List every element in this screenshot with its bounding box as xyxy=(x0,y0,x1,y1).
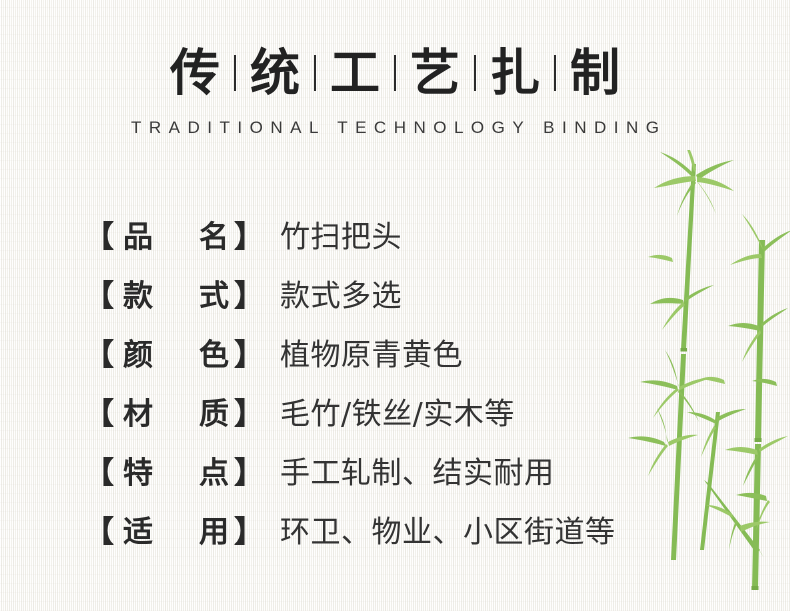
spec-label-char-b: 色 xyxy=(199,333,229,379)
spec-row-color: 【 颜 色 】 植物原青黄色 xyxy=(84,333,684,392)
spec-row-style: 【 款 式 】 款式多选 xyxy=(84,274,684,333)
bracket-open-icon: 【 xyxy=(84,215,114,261)
spec-label-material: 【 材 质 】 xyxy=(84,392,280,438)
spec-row-material: 【 材 质 】 毛竹/铁丝/实木等 xyxy=(84,392,684,451)
spec-label-application: 【 适 用 】 xyxy=(84,510,280,556)
page-title: 传 统 工 艺 扎 制 xyxy=(0,42,790,104)
spec-label-product-name: 【 品 名 】 xyxy=(84,215,280,261)
specification-list: 【 品 名 】 竹扫把头 【 款 式 】 款式多选 xyxy=(84,215,684,569)
title-char-4: 艺 xyxy=(396,42,474,104)
page-subtitle: TRADITIONAL TECHNOLOGY BINDING xyxy=(0,118,790,138)
title-char-2: 统 xyxy=(236,42,314,104)
spec-label-features: 【 特 点 】 xyxy=(84,451,280,497)
spec-label-color: 【 颜 色 】 xyxy=(84,333,280,379)
spec-label-char-b: 用 xyxy=(199,510,229,556)
bracket-close-icon: 】 xyxy=(234,510,264,556)
bracket-open-icon: 【 xyxy=(84,333,114,379)
spec-row-features: 【 特 点 】 手工轧制、结实耐用 xyxy=(84,451,684,510)
bracket-close-icon: 】 xyxy=(234,215,264,261)
title-char-6: 制 xyxy=(556,42,634,104)
spec-label-char-a: 品 xyxy=(123,215,153,261)
title-char-1: 传 xyxy=(156,42,234,104)
spec-label-char-b: 名 xyxy=(199,215,229,261)
spec-value-color: 植物原青黄色 xyxy=(280,333,463,379)
spec-value-material: 毛竹/铁丝/实木等 xyxy=(280,392,515,438)
spec-row-application: 【 适 用 】 环卫、物业、小区街道等 xyxy=(84,510,684,569)
title-char-5: 扎 xyxy=(476,42,554,104)
spec-value-product-name: 竹扫把头 xyxy=(280,215,402,261)
bracket-open-icon: 【 xyxy=(84,510,114,556)
title-char-3: 工 xyxy=(316,42,394,104)
spec-value-application: 环卫、物业、小区街道等 xyxy=(280,510,616,556)
spec-label-char-a: 特 xyxy=(123,451,153,497)
spec-label-char-b: 质 xyxy=(199,392,229,438)
spec-label-char-b: 式 xyxy=(199,274,229,320)
spec-value-style: 款式多选 xyxy=(280,274,402,320)
bracket-open-icon: 【 xyxy=(84,392,114,438)
poster-canvas: 传 统 工 艺 扎 制 TRADITIONAL TECHNOLOGY BINDI… xyxy=(0,0,790,611)
spec-label-char-b: 点 xyxy=(199,451,229,497)
spec-label-style: 【 款 式 】 xyxy=(84,274,280,320)
bracket-close-icon: 】 xyxy=(234,392,264,438)
spec-label-char-a: 适 xyxy=(123,510,153,556)
bracket-open-icon: 【 xyxy=(84,451,114,497)
bracket-close-icon: 】 xyxy=(234,274,264,320)
spec-label-char-a: 颜 xyxy=(123,333,153,379)
bracket-close-icon: 】 xyxy=(234,333,264,379)
spec-row-product-name: 【 品 名 】 竹扫把头 xyxy=(84,215,684,274)
spec-label-char-a: 款 xyxy=(123,274,153,320)
bracket-open-icon: 【 xyxy=(84,274,114,320)
spec-value-features: 手工轧制、结实耐用 xyxy=(280,451,555,497)
bracket-close-icon: 】 xyxy=(234,451,264,497)
spec-label-char-a: 材 xyxy=(123,392,153,438)
poster-header: 传 统 工 艺 扎 制 TRADITIONAL TECHNOLOGY BINDI… xyxy=(0,42,790,138)
